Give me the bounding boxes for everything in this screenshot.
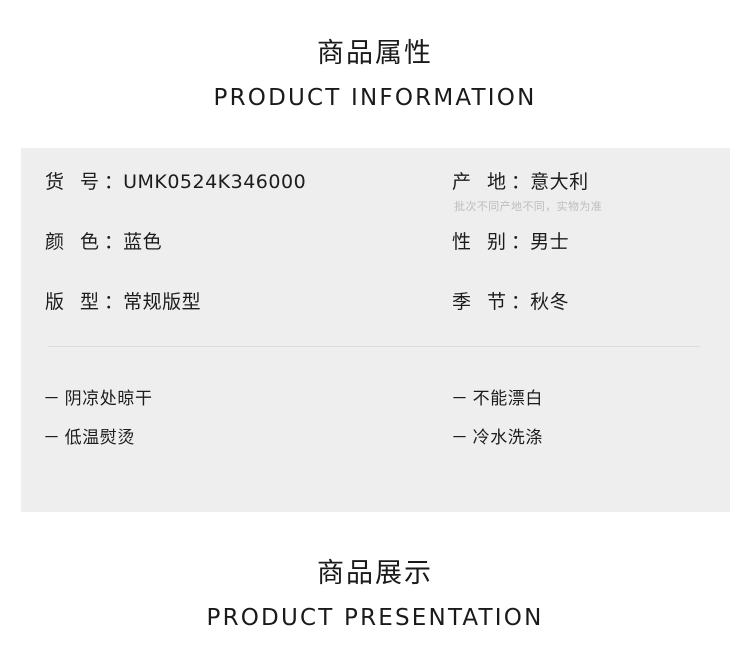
spec-item-gender: 性 别：男士 xyxy=(452,208,569,252)
product-info-panel: 货 号：UMK0524K346000 产 地：意大利 批次不同产地不同，实物为准… xyxy=(21,148,730,512)
spec-colon: ： xyxy=(104,291,123,313)
spec-value: 常规版型 xyxy=(123,291,201,313)
section-heading-attributes: 商品属性 PRODUCT INFORMATION xyxy=(0,40,750,110)
spec-value: 意大利 xyxy=(530,171,589,193)
spec-colon: ： xyxy=(511,171,530,193)
spec-colon: ： xyxy=(511,231,530,253)
spec-item-season: 季 节：秋冬 xyxy=(452,268,569,312)
care-column-left: －阴凉处晾干 －低温熨烫 xyxy=(43,391,153,469)
spec-line: 产 地：意大利 xyxy=(452,148,602,192)
spec-row: 颜 色：蓝色 性 别：男士 xyxy=(21,208,730,268)
care-dash-icon: － xyxy=(43,428,61,448)
spec-label: 颜 色 xyxy=(45,231,104,253)
spec-label: 产 地 xyxy=(452,171,511,193)
care-dash-icon: － xyxy=(451,389,469,409)
spec-label: 性 别 xyxy=(452,231,511,253)
care-item: －不能漂白 xyxy=(451,391,543,408)
section-title-en-attributes: PRODUCT INFORMATION xyxy=(0,87,750,110)
care-item-label: 不能漂白 xyxy=(473,389,543,409)
care-dash-icon: － xyxy=(43,389,61,409)
spec-value: 秋冬 xyxy=(530,291,569,313)
spec-value: UMK0524K346000 xyxy=(123,171,306,193)
spec-colon: ： xyxy=(511,291,530,313)
spec-item-fit: 版 型：常规版型 xyxy=(45,268,201,312)
section-title-cn-attributes: 商品属性 xyxy=(0,40,750,67)
spec-line: 颜 色：蓝色 xyxy=(45,208,162,252)
spec-label: 季 节 xyxy=(452,291,511,313)
spec-colon: ： xyxy=(104,231,123,253)
spec-line: 性 别：男士 xyxy=(452,208,569,252)
spec-item-color: 颜 色：蓝色 xyxy=(45,208,162,252)
spec-label: 版 型 xyxy=(45,291,104,313)
spec-colon: ： xyxy=(104,171,123,193)
care-item: －低温熨烫 xyxy=(43,430,153,447)
panel-divider xyxy=(48,346,700,347)
spec-value: 男士 xyxy=(530,231,569,253)
spec-line: 货 号：UMK0524K346000 xyxy=(45,148,306,192)
care-item-label: 冷水洗涤 xyxy=(473,428,543,448)
care-item-label: 低温熨烫 xyxy=(65,428,135,448)
spec-line: 季 节：秋冬 xyxy=(452,268,569,312)
care-dash-icon: － xyxy=(451,428,469,448)
care-item: －阴凉处晾干 xyxy=(43,391,153,408)
section-heading-presentation: 商品展示 PRODUCT PRESENTATION xyxy=(0,560,750,630)
spec-grid: 货 号：UMK0524K346000 产 地：意大利 批次不同产地不同，实物为准… xyxy=(21,148,730,328)
section-title-cn-presentation: 商品展示 xyxy=(0,560,750,587)
spec-row: 货 号：UMK0524K346000 产 地：意大利 批次不同产地不同，实物为准 xyxy=(21,148,730,208)
care-item-label: 阴凉处晾干 xyxy=(65,389,153,409)
care-item: －冷水洗涤 xyxy=(451,430,543,447)
spec-item-article-number: 货 号：UMK0524K346000 xyxy=(45,148,306,192)
care-column-right: －不能漂白 －冷水洗涤 xyxy=(451,391,543,469)
spec-label: 货 号 xyxy=(45,171,104,193)
spec-line: 版 型：常规版型 xyxy=(45,268,201,312)
spec-item-origin: 产 地：意大利 批次不同产地不同，实物为准 xyxy=(452,148,602,212)
spec-value: 蓝色 xyxy=(123,231,162,253)
product-information-page: 商品属性 PRODUCT INFORMATION 货 号：UMK0524K346… xyxy=(0,0,750,671)
spec-row: 版 型：常规版型 季 节：秋冬 xyxy=(21,268,730,328)
section-title-en-presentation: PRODUCT PRESENTATION xyxy=(0,607,750,630)
